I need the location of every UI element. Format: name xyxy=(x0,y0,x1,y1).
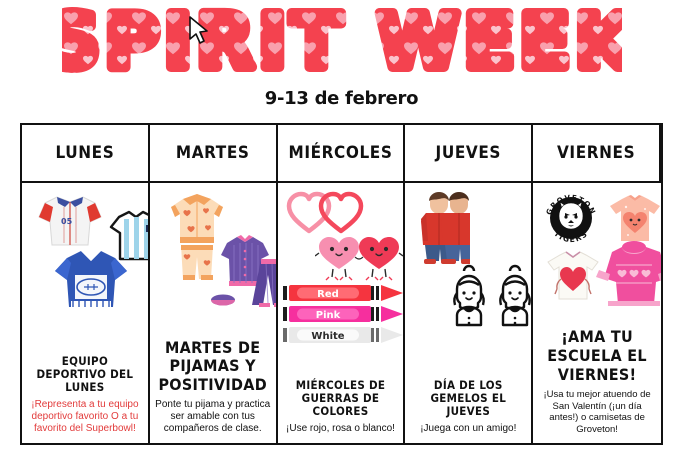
lunes-caption: EQUIPO DEPORTIVO DEL LUNES ¡Representa a… xyxy=(27,355,143,437)
miercoles-caption-desc: ¡Use rojo, rosa o blanco! xyxy=(283,423,399,435)
day-cell-miercoles: Red Pink Whi xyxy=(278,183,406,443)
day-cell-viernes: GROVETON TIGERS xyxy=(533,183,661,443)
spirit-week-title-art: SPIRIT WEEK xyxy=(62,5,622,83)
twin-girls-outline-icon xyxy=(450,263,533,329)
groveton-tigers-logo-icon: GROVETON TIGERS xyxy=(540,187,602,249)
crayon-pink-icon: Pink xyxy=(283,304,406,324)
sleep-mask-icon xyxy=(209,293,237,307)
jersey-number-text: 05 xyxy=(61,217,73,226)
lunes-caption-desc: ¡Representa a tu equipo deportivo favori… xyxy=(27,399,143,435)
day-cell-jueves: DÍA DE LOS GEMELOS EL JUEVES ¡Juega con … xyxy=(405,183,533,443)
miercoles-artwork: Red Pink Whi xyxy=(283,187,399,339)
viernes-caption-desc: ¡Usa tu mejor atuendo de San Valentín (¡… xyxy=(538,389,656,435)
crayon-white-icon: White xyxy=(283,325,406,345)
crayon-red-icon: Red xyxy=(283,283,406,303)
jueves-caption: DÍA DE LOS GEMELOS EL JUEVES ¡Juega con … xyxy=(410,379,526,437)
baseball-jersey-icon: 05 xyxy=(31,193,109,249)
table-header-martes: MARTES xyxy=(150,125,278,183)
jueves-caption-title: DÍA DE LOS GEMELOS EL JUEVES xyxy=(410,379,526,418)
day-cell-martes: MARTES DE PIJAMAS Y POSITIVIDAD Ponte tu… xyxy=(150,183,278,443)
martes-caption-desc: Ponte tu pijama y practica ser amable co… xyxy=(155,399,271,435)
white-heart-tshirt-icon xyxy=(542,249,604,303)
svg-text:SPIRIT WEEK: SPIRIT WEEK xyxy=(62,5,622,83)
kawaii-heart-pair-icon xyxy=(315,235,406,283)
day-cell-lunes: 05 xyxy=(22,183,150,443)
pink-sweater-icon xyxy=(596,239,661,311)
crayon-pink-label: Pink xyxy=(315,310,340,321)
crayon-red-label: Red xyxy=(317,289,339,300)
miercoles-caption-title: MIÉRCOLES DE GUERRAS DE COLORES xyxy=(283,379,399,418)
lunes-caption-title: EQUIPO DEPORTIVO DEL LUNES xyxy=(27,355,143,394)
viernes-caption: ¡AMA TU ESCUELA EL VIERNES! ¡Usa tu mejo… xyxy=(538,328,656,437)
table-header-jueves: JUEVES xyxy=(405,125,533,183)
crayon-white-label: White xyxy=(311,331,344,342)
poster-subtitle: 9-13 de febrero xyxy=(0,88,683,109)
peach-heart-tshirt-icon xyxy=(604,193,661,245)
miercoles-caption: MIÉRCOLES DE GUERRAS DE COLORES ¡Use roj… xyxy=(283,379,399,437)
football-jersey-icon xyxy=(49,249,133,311)
poster-title: SPIRIT WEEK xyxy=(0,4,683,84)
twin-boys-icon xyxy=(412,189,470,265)
outline-hearts-icon xyxy=(285,189,373,237)
viernes-caption-title: ¡AMA TU ESCUELA EL VIERNES! xyxy=(538,328,656,385)
martes-caption: MARTES DE PIJAMAS Y POSITIVIDAD Ponte tu… xyxy=(155,339,271,437)
spirit-week-table: LUNES MARTES MIÉRCOLES JUEVES VIERNES 05 xyxy=(20,123,663,445)
viernes-artwork: GROVETON TIGERS xyxy=(538,187,656,311)
martes-artwork xyxy=(155,187,271,309)
jueves-artwork xyxy=(410,187,526,337)
table-header-miercoles: MIÉRCOLES xyxy=(278,125,406,183)
spirit-week-poster: SPIRIT WEEK 9-13 de febrero LUNES MARTES… xyxy=(0,0,683,452)
table-header-viernes: VIERNES xyxy=(533,125,661,183)
martes-caption-title: MARTES DE PIJAMAS Y POSITIVIDAD xyxy=(155,339,271,394)
jueves-caption-desc: ¡Juega con un amigo! xyxy=(410,423,526,435)
lunes-artwork: 05 xyxy=(27,187,143,315)
table-header-lunes: LUNES xyxy=(22,125,150,183)
